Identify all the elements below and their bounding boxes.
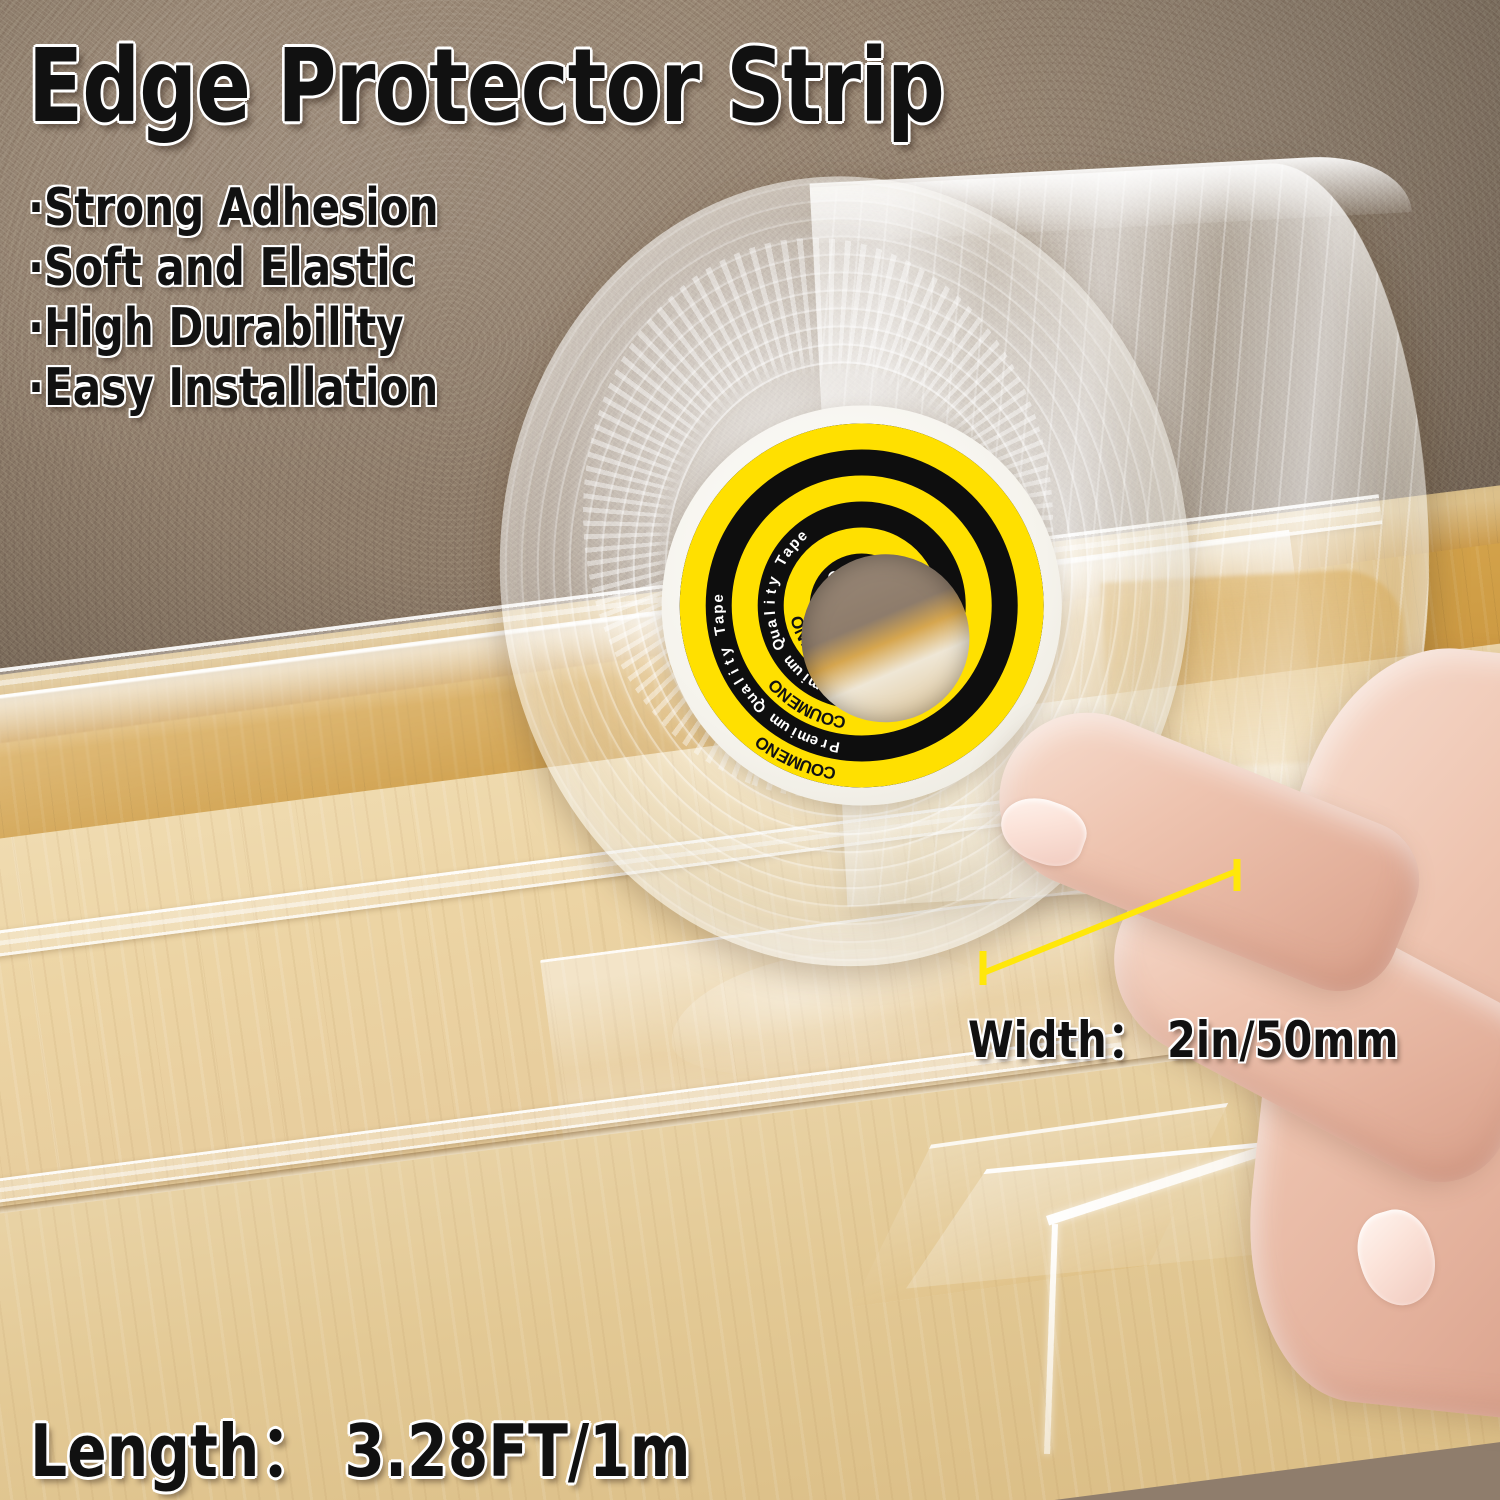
label-text-char: a (710, 614, 728, 624)
label-text-char: P (828, 737, 842, 756)
label-text-char (714, 637, 732, 646)
hand (1060, 520, 1500, 1420)
feature-item: ·Easy Installation (28, 358, 439, 418)
feature-item: ·High Durability (28, 298, 439, 358)
feature-list: ·Strong Adhesion ·Soft and Elastic ·High… (28, 178, 439, 418)
label-text-char: p (710, 604, 727, 614)
page-title: Edge Protector Strip (28, 38, 944, 136)
label-text-char: t (762, 587, 780, 595)
feature-item: ·Strong Adhesion (28, 178, 439, 238)
label-text-char: e (710, 593, 727, 603)
label-text-char: i (762, 599, 779, 604)
width-label: Width： 2in/50mm (968, 1000, 1399, 1072)
label-text-char: l (762, 610, 779, 616)
label-text-char: y (764, 574, 783, 587)
feature-item: ·Soft and Elastic (28, 238, 439, 298)
label-text-char: T (711, 624, 729, 636)
product-marketing-image: COUMENOPremium Quality TapeCOUMENOPremiu… (0, 0, 1500, 1500)
label-text-char: i (726, 665, 743, 677)
label-text-char: t (721, 656, 739, 668)
length-label: Length： 3.28FT/1m (30, 1392, 690, 1497)
